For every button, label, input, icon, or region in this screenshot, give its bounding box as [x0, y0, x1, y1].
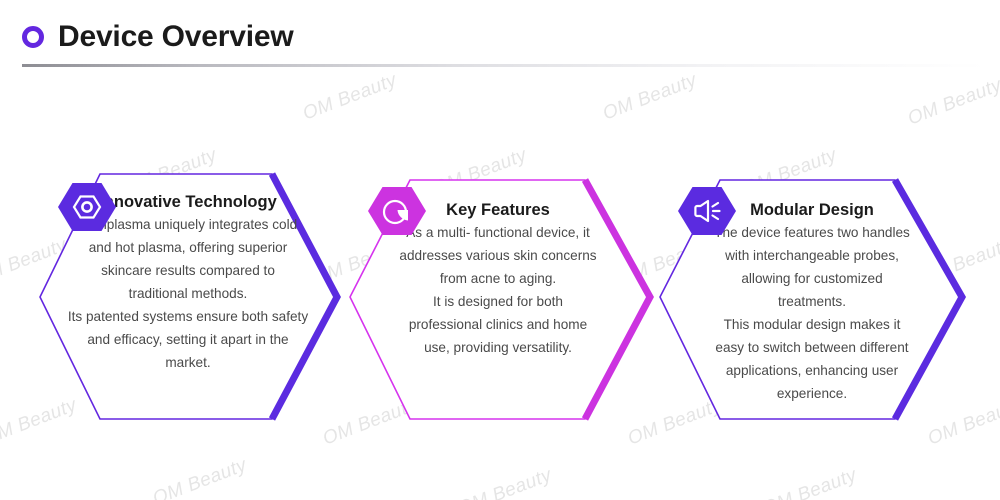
circle-outline-icon — [22, 26, 44, 48]
card-body: As a multi- functional device, it addres… — [368, 222, 628, 360]
card-key-features[interactable]: Key Features As a multi- functional devi… — [310, 166, 670, 446]
card-body: The device features two handles with int… — [678, 222, 946, 406]
page-title: Device Overview — [58, 22, 294, 52]
card-body: Coolplasma uniquely integrates cold and … — [58, 214, 318, 375]
speaker-wave-icon — [678, 186, 736, 236]
page-header: Device Overview — [0, 0, 1000, 72]
hex-target-icon — [58, 182, 116, 232]
card-modular-design[interactable]: Modular Design The device features two h… — [620, 166, 990, 451]
card-group: Innovative Technology Coolplasma uniquel… — [0, 0, 1000, 500]
header-divider — [22, 64, 986, 67]
pie-chart-icon — [368, 186, 426, 236]
title-row: Device Overview — [22, 22, 294, 52]
card-innovative-technology[interactable]: Innovative Technology Coolplasma uniquel… — [0, 160, 360, 440]
